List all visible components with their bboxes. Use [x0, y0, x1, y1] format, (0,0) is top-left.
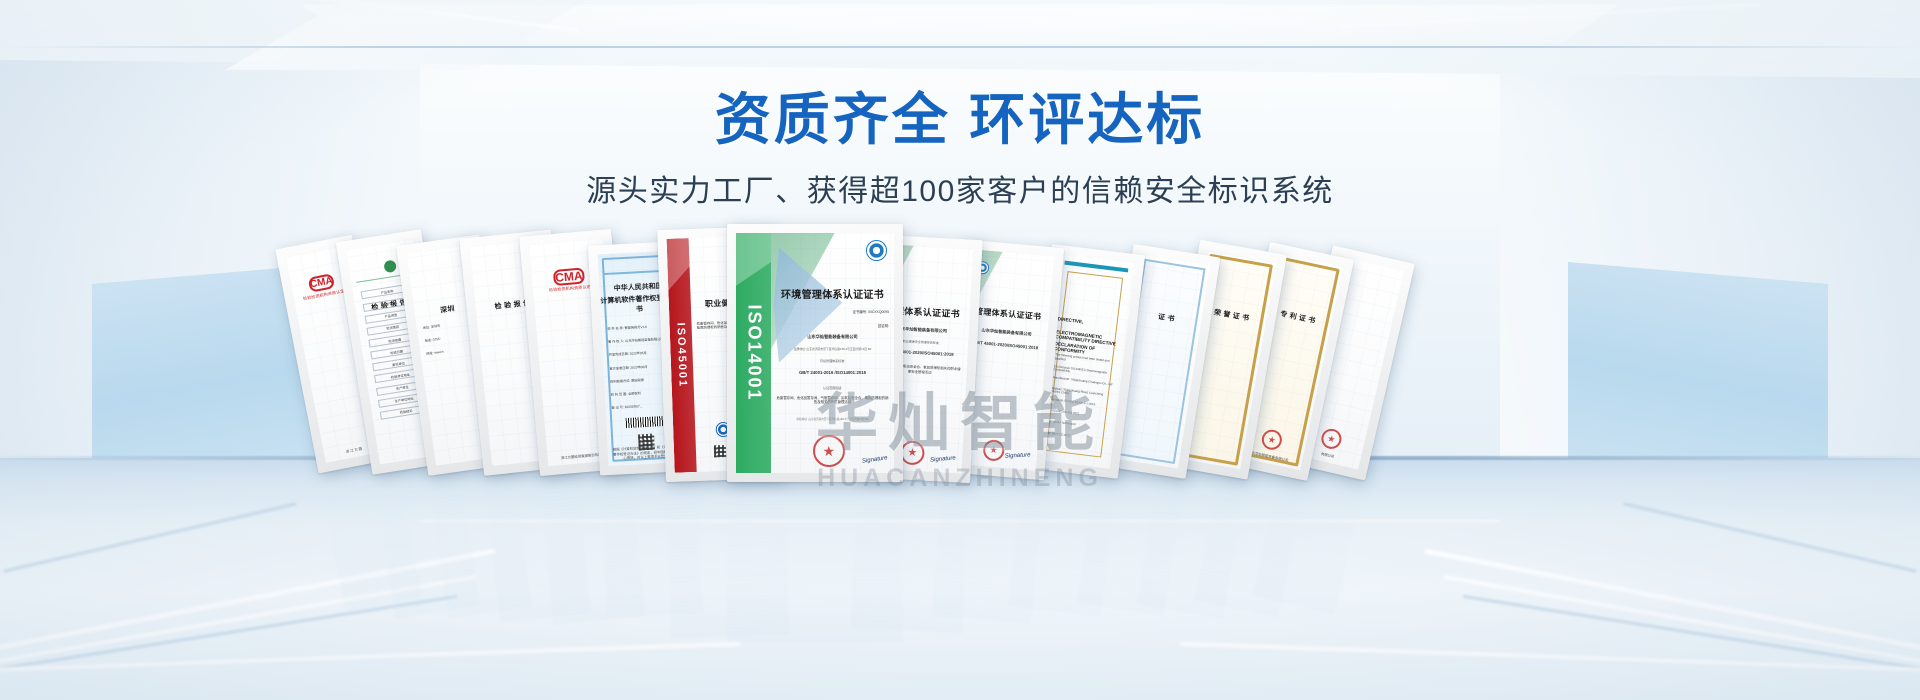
certificate-reflection: [484, 466, 591, 622]
certificate-paper: ISO14001环境管理体系认证证书证书编号: 00CXXQ0095兹证明:山东…: [736, 233, 894, 473]
certificate-inner: ISO14001环境管理体系认证证书证书编号: 00CXXQ0095兹证明:山东…: [736, 233, 894, 473]
certificate-standard-code: GB/T 24001-2016 /ISO14001:2015: [776, 370, 889, 375]
qualification-banner: 资质齐全 环评达标 源头实力工厂、获得超100家客户的信赖安全标识系统 CMA检…: [0, 0, 1920, 700]
certificate-side-band: ISO45001: [667, 238, 697, 473]
certificate-reflection: [850, 477, 970, 633]
certificate-scope-label: 认证范围包括:: [776, 387, 889, 391]
certificate-standard-label: 环境管理体系标准:: [776, 360, 889, 364]
certificate-scope: 危废暂存间、危化品暂存间、气瓶暂存间、氮氧站安全合、氧氮防爆柜的销售及相关的环境…: [776, 396, 889, 405]
certificate-reflection: [319, 459, 423, 613]
certificate-reflection: [1007, 467, 1117, 617]
page-subtitle: 源头实力工厂、获得超100家客户的信赖安全标识系统: [0, 166, 1920, 210]
certificate-audit-address: 审核地址: 山东省济南市历下区华信路168-2号正园大厦14层 B2: [776, 418, 889, 421]
certificate-side-band: ISO14001: [736, 233, 771, 473]
banner-headings: 资质齐全 环评达标 源头实力工厂、获得超100家客户的信赖安全标识系统: [0, 88, 1920, 210]
certificate-reflection: [540, 468, 645, 624]
certificate-reflection: [666, 478, 789, 638]
certificate-frame[interactable]: ISO14001环境管理体系认证证书证书编号: 00CXXQ0095兹证明:山东…: [727, 224, 903, 482]
barcode: [626, 416, 665, 428]
certificate-address: 注册地址: 山东省济南市历下区华信路168-2号正园大厦14层 B2: [776, 348, 889, 351]
iso-standard-label: ISO14001: [743, 304, 764, 401]
certificate-reflection: [1077, 465, 1186, 616]
certificate-number: 证书编号: 00CXXQ0095: [776, 310, 889, 314]
certificate-company-name: 山东华灿智能装备有限公司: [776, 334, 889, 339]
certificate-reflection: [600, 470, 703, 617]
certificate-company-label: 兹证明:: [776, 324, 889, 328]
certificate-reflection: [1136, 464, 1247, 618]
certificate-reflection: [932, 472, 1044, 625]
cma-logo: CMA: [553, 267, 585, 286]
certificate-reflection: [1252, 462, 1365, 615]
certificate-reflection: [727, 482, 903, 642]
certificate-title: 环境管理体系认证证书: [771, 286, 894, 301]
page-title: 资质齐全 环评达标: [0, 88, 1920, 152]
certificate-reflection: [1194, 463, 1307, 618]
certificate-reflection: [428, 464, 531, 618]
qr-code: [714, 445, 726, 457]
iso-standard-label: ISO45001: [674, 322, 688, 388]
certificate-reflection: [373, 461, 481, 618]
inspection-agency-logo: [384, 260, 398, 274]
official-seal: ★: [813, 435, 845, 467]
official-seal: ★: [1319, 427, 1343, 451]
